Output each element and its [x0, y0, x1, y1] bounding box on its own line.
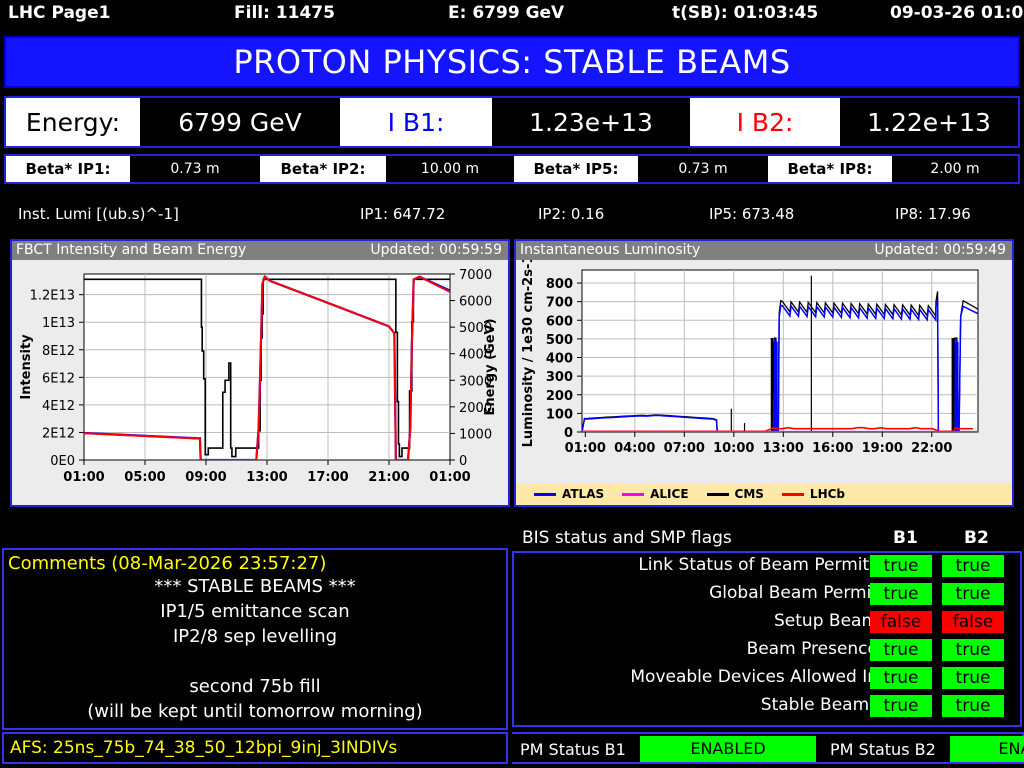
svg-text:2E12: 2E12: [42, 426, 75, 441]
beam-energy: E: 6799 GeV: [448, 3, 564, 23]
bis-flag-b2: true: [942, 555, 1004, 577]
bis-flag-b2: false: [942, 611, 1004, 633]
svg-text:13:00: 13:00: [246, 470, 287, 485]
bis-row-label: Link Status of Beam Permits: [638, 555, 878, 575]
bis-flag-b1: true: [870, 555, 932, 577]
bis-row-label: Moveable Devices Allowed In: [630, 667, 878, 687]
svg-text:6E12: 6E12: [42, 371, 75, 386]
legend-label: ATLAS: [562, 487, 604, 501]
bis-row: Setup Beamfalsefalse: [514, 609, 1020, 637]
energy-label: Energy:: [6, 98, 140, 146]
bis-flag-b1: false: [870, 611, 932, 633]
comments-body: *** STABLE BEAMS ***IP1/5 emittance scan…: [4, 574, 506, 724]
svg-text:600: 600: [546, 314, 573, 329]
bis-row: Stable Beamstruetrue: [514, 693, 1020, 721]
bis-row-label: Beam Presence: [747, 639, 878, 659]
beta-star-row: Beta* IP1: 0.73 m Beta* IP2: 10.00 m Bet…: [4, 154, 1020, 184]
bis-flag-b1: true: [870, 667, 932, 689]
svg-text:0: 0: [564, 426, 573, 441]
svg-text:01:00: 01:00: [565, 441, 606, 456]
beam2-label: I B2:: [690, 98, 840, 146]
svg-text:100: 100: [546, 407, 573, 422]
inst-luminosity-chart-panel: Instantaneous Luminosity Updated: 00:59:…: [514, 239, 1014, 507]
lumi-chart-legend: ATLASALICECMSLHCb: [516, 483, 1012, 505]
comment-spacer: [4, 649, 506, 674]
lumi-chart-updated: Updated: 00:59:49: [874, 242, 1006, 258]
inst-lumi-ip2: IP2: 0.16: [538, 205, 604, 223]
comment-line: *** STABLE BEAMS ***: [4, 574, 506, 599]
bis-row: Link Status of Beam Permitstruetrue: [514, 553, 1020, 581]
stable-beam-time: t(SB): 01:03:45: [672, 3, 818, 23]
bis-col-b2: B2: [964, 528, 989, 548]
fbct-chart-title: FBCT Intensity and Beam Energy: [16, 242, 246, 258]
bis-row-label: Setup Beam: [774, 611, 878, 631]
beta-ip8-value: 2.00 m: [892, 156, 1018, 182]
comment-line: IP2/8 sep levelling: [4, 624, 506, 649]
comment-line: second 75b fill: [4, 674, 506, 699]
svg-text:07:00: 07:00: [664, 441, 705, 456]
comment-line: (will be kept until tomorrow morning): [4, 699, 506, 724]
bis-header: BIS status and SMP flags B1 B2: [512, 528, 1024, 550]
bis-col-b1: B1: [893, 528, 918, 548]
mode-banner: PROTON PHYSICS: STABLE BEAMS: [4, 36, 1020, 88]
svg-text:300: 300: [546, 370, 573, 385]
pm-status-b1-label: PM Status B1: [520, 740, 626, 759]
inst-lumi-label: Inst. Lumi [(ub.s)^-1]: [18, 205, 179, 223]
svg-text:1000: 1000: [459, 427, 492, 442]
beam1-intensity: 1.23e+13: [492, 98, 690, 146]
bis-flag-b1: true: [870, 695, 932, 717]
mode-banner-text: PROTON PHYSICS: STABLE BEAMS: [233, 43, 790, 81]
svg-text:04:00: 04:00: [614, 441, 655, 456]
datetime: 09-03-26 01:00:03: [890, 3, 1024, 23]
svg-text:13:00: 13:00: [763, 441, 804, 456]
lumi-chart-svg: 010020030040050060070080001:0004:0007:00…: [516, 260, 1012, 483]
bis-flag-b1: true: [870, 583, 932, 605]
svg-text:22:00: 22:00: [911, 441, 952, 456]
svg-text:0E0: 0E0: [50, 454, 75, 469]
bis-row-label: Stable Beams: [761, 695, 878, 715]
legend-item: ATLAS: [534, 487, 604, 501]
lumi-chart-title: Instantaneous Luminosity: [520, 242, 700, 258]
svg-text:19:00: 19:00: [862, 441, 903, 456]
beta-ip1-label: Beta* IP1:: [6, 156, 130, 182]
bis-row: Moveable Devices Allowed Intruetrue: [514, 665, 1020, 693]
fill-number: Fill: 11475: [234, 3, 335, 23]
bis-flag-b2: true: [942, 639, 1004, 661]
lumi-chart-body: 010020030040050060070080001:0004:0007:00…: [516, 260, 1012, 505]
bis-title: BIS status and SMP flags: [522, 528, 732, 548]
energy-intensity-row: Energy: 6799 GeV I B1: 1.23e+13 I B2: 1.…: [4, 96, 1020, 148]
svg-text:Intensity: Intensity: [19, 334, 34, 400]
svg-text:Energy (GeV): Energy (GeV): [483, 318, 498, 415]
svg-text:6000: 6000: [459, 295, 492, 310]
beta-ip8-label: Beta* IP8:: [768, 156, 892, 182]
beta-ip2-value: 10.00 m: [386, 156, 514, 182]
svg-text:800: 800: [546, 277, 573, 292]
pm-status-row: PM Status B1 ENABLED PM Status B2 ENABLE…: [512, 732, 1024, 764]
bis-flag-b2: true: [942, 695, 1004, 717]
bis-row: Global Beam Permittruetrue: [514, 581, 1020, 609]
legend-swatch: [782, 493, 804, 496]
svg-text:1.2E13: 1.2E13: [30, 289, 75, 304]
bis-status-table: Link Status of Beam PermitstruetrueGloba…: [512, 551, 1022, 727]
legend-label: ALICE: [650, 487, 688, 501]
afs-text: AFS: 25ns_75b_74_38_50_12bpi_9inj_3INDIV…: [4, 738, 397, 758]
legend-item: LHCb: [782, 487, 845, 501]
svg-text:01:00: 01:00: [63, 470, 104, 485]
svg-text:16:00: 16:00: [812, 441, 853, 456]
svg-text:8E12: 8E12: [42, 344, 75, 359]
legend-swatch: [534, 493, 556, 496]
fbct-intensity-chart-panel: FBCT Intensity and Beam Energy Updated: …: [10, 239, 510, 507]
top-status-bar: LHC Page1 Fill: 11475 E: 6799 GeV t(SB):…: [0, 0, 1024, 28]
svg-text:01:00: 01:00: [429, 470, 470, 485]
svg-text:7000: 7000: [459, 268, 492, 283]
comments-box: Comments (08-Mar-2026 23:57:27) *** STAB…: [2, 548, 508, 730]
beta-ip5-label: Beta* IP5:: [514, 156, 638, 182]
bis-flag-b2: true: [942, 583, 1004, 605]
svg-text:Luminosity / 1e30 cm-2s-1: Luminosity / 1e30 cm-2s-1: [521, 260, 536, 447]
inst-lumi-ip8: IP8: 17.96: [895, 205, 971, 223]
page-title: LHC Page1: [8, 3, 110, 23]
beta-ip5-value: 0.73 m: [638, 156, 768, 182]
energy-value: 6799 GeV: [140, 98, 340, 146]
pm-status-b1-value: ENABLED: [640, 736, 816, 762]
svg-text:17:00: 17:00: [307, 470, 348, 485]
svg-text:21:00: 21:00: [368, 470, 409, 485]
beta-ip1-value: 0.73 m: [130, 156, 260, 182]
beam1-label: I B1:: [340, 98, 492, 146]
pm-status-b2-label: PM Status B2: [830, 740, 936, 759]
lumi-chart-titlebar: Instantaneous Luminosity Updated: 00:59:…: [516, 241, 1012, 260]
fbct-chart-titlebar: FBCT Intensity and Beam Energy Updated: …: [12, 241, 508, 260]
svg-text:700: 700: [546, 296, 573, 311]
legend-item: ALICE: [622, 487, 688, 501]
svg-text:200: 200: [546, 389, 573, 404]
svg-text:10:00: 10:00: [713, 441, 754, 456]
afs-box: AFS: 25ns_75b_74_38_50_12bpi_9inj_3INDIV…: [2, 732, 508, 764]
inst-lumi-ip5: IP5: 673.48: [709, 205, 794, 223]
legend-label: LHCb: [810, 487, 845, 501]
svg-text:1E13: 1E13: [42, 316, 75, 331]
inst-lumi-row: Inst. Lumi [(ub.s)^-1] IP1: 647.72 IP2: …: [0, 205, 1024, 233]
bis-flag-b2: true: [942, 667, 1004, 689]
fbct-chart-updated: Updated: 00:59:59: [370, 242, 502, 258]
svg-text:09:00: 09:00: [185, 470, 226, 485]
legend-swatch: [622, 493, 644, 496]
comments-header: Comments (08-Mar-2026 23:57:27): [4, 550, 506, 574]
svg-text:500: 500: [546, 333, 573, 348]
fbct-chart-body: 0E02E124E126E128E121E131.2E1301000200030…: [12, 260, 508, 505]
bis-flag-b1: true: [870, 639, 932, 661]
pm-status-b2-value: ENABLED: [950, 736, 1024, 762]
inst-lumi-ip1: IP1: 647.72: [360, 205, 445, 223]
beta-ip2-label: Beta* IP2:: [260, 156, 386, 182]
comment-line: IP1/5 emittance scan: [4, 599, 506, 624]
beam2-intensity: 1.22e+13: [840, 98, 1018, 146]
legend-swatch: [707, 493, 729, 496]
bis-row-label: Global Beam Permit: [709, 583, 878, 603]
svg-text:400: 400: [546, 352, 573, 367]
svg-text:05:00: 05:00: [124, 470, 165, 485]
legend-item: CMS: [707, 487, 764, 501]
svg-text:0: 0: [459, 454, 467, 469]
legend-label: CMS: [735, 487, 764, 501]
svg-text:4E12: 4E12: [42, 399, 75, 414]
lhc-page1: LHC Page1 Fill: 11475 E: 6799 GeV t(SB):…: [0, 0, 1024, 768]
fbct-chart-svg: 0E02E124E126E128E121E131.2E1301000200030…: [12, 260, 508, 505]
bis-row: Beam Presencetruetrue: [514, 637, 1020, 665]
